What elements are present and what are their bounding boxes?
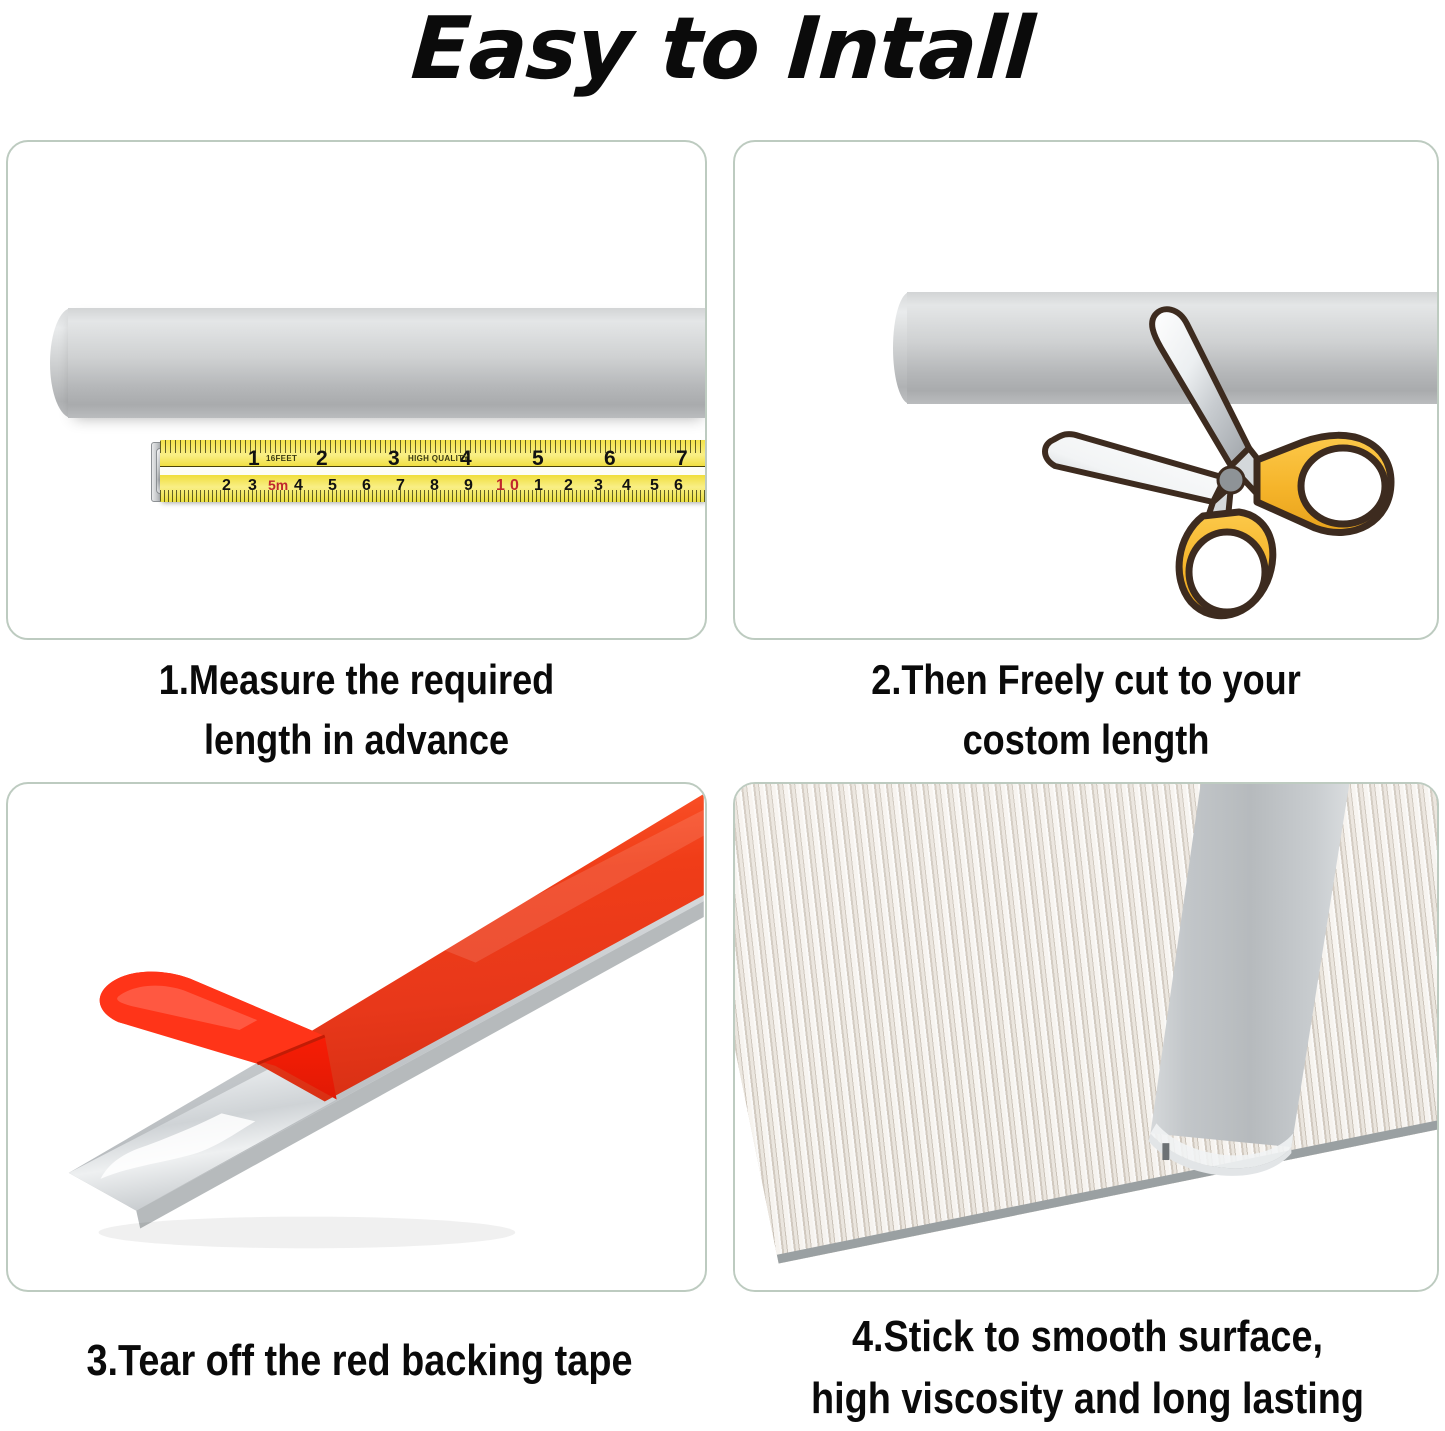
scissors-pivot-icon bbox=[1218, 467, 1244, 493]
tape-metric-mark: 1 bbox=[534, 478, 543, 494]
step-panel-3 bbox=[6, 782, 707, 1292]
tape-peel-graphic bbox=[8, 784, 705, 1290]
page-title: Easy to Intall bbox=[0, 4, 1445, 94]
step-panel-2 bbox=[733, 140, 1439, 640]
tape-metric-mark: 5 bbox=[650, 478, 659, 494]
tape-metric-mark: 3 bbox=[248, 478, 257, 494]
tape-inch-mark: 7 bbox=[676, 448, 688, 469]
step-caption-1: 1.Measure the required length in advance bbox=[55, 650, 658, 769]
scissors-blade-lower bbox=[1045, 434, 1225, 502]
peel-illustration bbox=[8, 784, 705, 1290]
strip-notch bbox=[1162, 1143, 1169, 1160]
tape-hairline bbox=[160, 466, 707, 467]
gray-strip bbox=[1150, 784, 1350, 1147]
step-caption-3: 3.Tear off the red backing tape bbox=[50, 1330, 668, 1392]
tape-inch-mark: 1 bbox=[248, 448, 260, 469]
scissors-handle-right-hole bbox=[1301, 448, 1385, 524]
tape-inch-mark: 2 bbox=[316, 448, 328, 469]
tape-inch-mark: 5 bbox=[532, 448, 544, 469]
tape-quality-label: HIGH QUALITY bbox=[408, 454, 469, 463]
tape-inch-mark: 6 bbox=[604, 448, 616, 469]
tape-length-label: 5m bbox=[268, 478, 288, 492]
tape-metric-mark: 6 bbox=[674, 478, 683, 494]
applied-strip-graphic bbox=[735, 784, 1437, 1290]
tape-metric-mark: 1 bbox=[496, 478, 505, 494]
scissors-blade-upper bbox=[1152, 309, 1249, 466]
stick-illustration bbox=[735, 784, 1437, 1290]
tape-metric-mark: 5 bbox=[328, 478, 337, 494]
tape-measure-blade: 1 2 3 4 5 6 7 16FEET HIGH QUALITY 5m 2 3… bbox=[160, 440, 707, 502]
gray-pipe bbox=[68, 308, 707, 418]
tape-metric-mark: 7 bbox=[396, 478, 405, 494]
tape-strip-edge bbox=[136, 901, 704, 1228]
tape-upper-ticks bbox=[160, 440, 707, 453]
tape-metric-mark: 3 bbox=[594, 478, 603, 494]
cut-illustration bbox=[735, 142, 1437, 638]
tape-metric-mark: 6 bbox=[362, 478, 371, 494]
measure-illustration: 1 2 3 4 5 6 7 16FEET HIGH QUALITY 5m 2 3… bbox=[8, 142, 705, 638]
step-panel-4 bbox=[733, 782, 1439, 1292]
scissors-icon bbox=[1035, 290, 1435, 640]
tape-inch-mark: 3 bbox=[388, 448, 400, 469]
tape-metric-mark: 9 bbox=[464, 478, 473, 494]
tape-metric-mark: 2 bbox=[222, 478, 231, 494]
tape-brand-label: 16FEET bbox=[266, 454, 297, 463]
step-caption-2: 2.Then Freely cut to your costom length bbox=[782, 650, 1389, 769]
tape-metric-mark: 2 bbox=[564, 478, 573, 494]
tape-metric-mark: 4 bbox=[294, 478, 303, 494]
tape-metric-mark: 4 bbox=[622, 478, 631, 494]
tape-metric-mark: 8 bbox=[430, 478, 439, 494]
drop-shadow bbox=[99, 1217, 516, 1249]
step-panel-1: 1 2 3 4 5 6 7 16FEET HIGH QUALITY 5m 2 3… bbox=[6, 140, 707, 640]
infographic-page: Easy to Intall 1 bbox=[0, 0, 1445, 1431]
step-caption-4: 4.Stick to smooth surface, high viscosit… bbox=[780, 1306, 1395, 1431]
scissors-handle-bottom-hole bbox=[1189, 532, 1265, 612]
tape-metric-mark: 0 bbox=[510, 478, 519, 494]
